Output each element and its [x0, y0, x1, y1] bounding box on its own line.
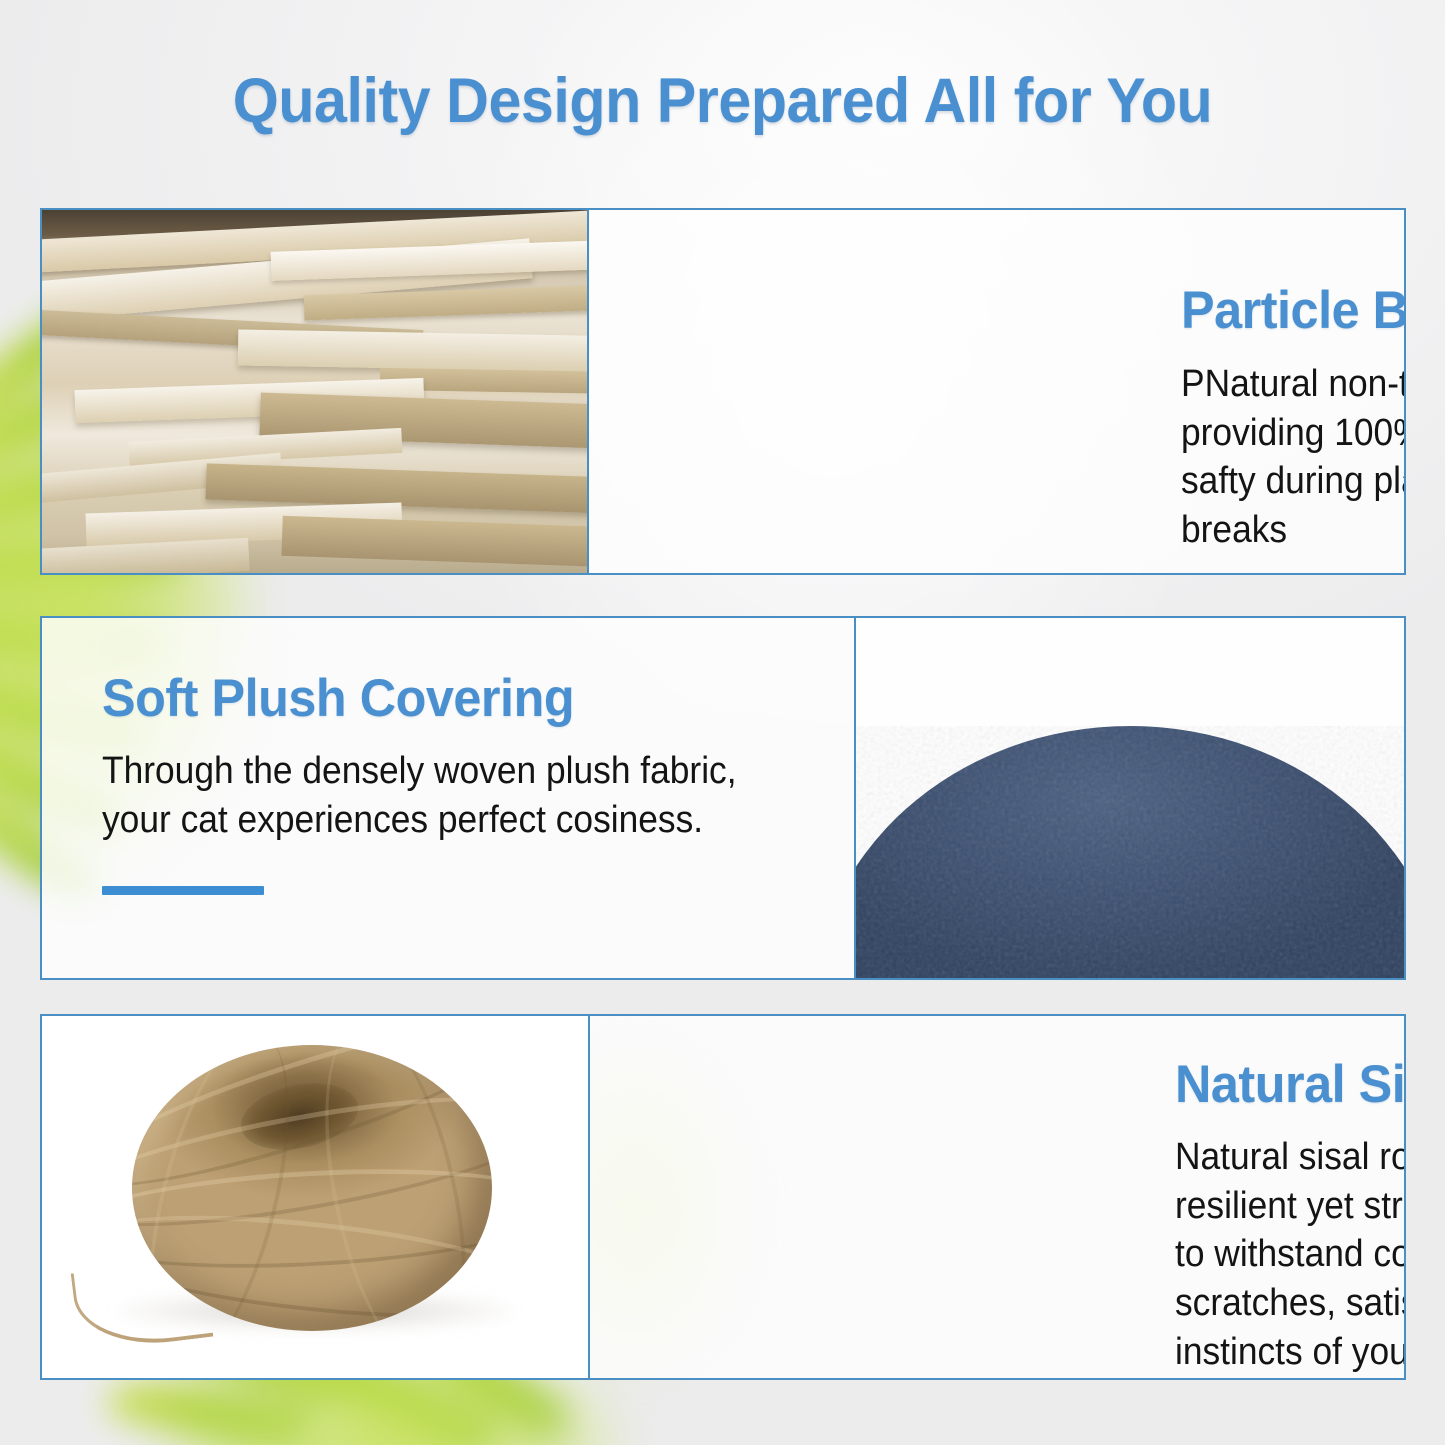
- rope-loose-end: [70, 1258, 213, 1354]
- feature-title-particle-board: Particle Board: [1181, 284, 1406, 337]
- feature-card-natural-sisal-rope: Natural Sisal Rope Natural sisal rope is…: [40, 1014, 1406, 1380]
- particle-board-photo: [42, 210, 587, 573]
- plush-texture: [856, 726, 1404, 978]
- feature-card-soft-plush-covering: Soft Plush Covering Through the densely …: [40, 616, 1406, 980]
- soft-plush-text-panel: Soft Plush Covering Through the densely …: [42, 618, 856, 978]
- feature-description-natural-sisal-rope: Natural sisal rope is highly resilient y…: [1175, 1133, 1406, 1380]
- sisal-rope-image: [42, 1016, 588, 1378]
- particle-board-text-panel: Particle Board PNatural non-toxic, provi…: [587, 210, 1404, 573]
- feature-description-soft-plush-covering: Through the densely woven plush fabric, …: [102, 747, 753, 844]
- feature-title-natural-sisal-rope: Natural Sisal Rope: [1175, 1058, 1406, 1111]
- sisal-rope-ball-photo: [42, 1016, 588, 1378]
- navy-plush-fabric-photo: [856, 618, 1404, 978]
- sisal-rope-text-panel: Natural Sisal Rope Natural sisal rope is…: [588, 1016, 1404, 1378]
- plush-dome-shape: [856, 726, 1404, 978]
- navy-plush-image: [856, 618, 1404, 978]
- feature-title-soft-plush-covering: Soft Plush Covering: [102, 672, 767, 725]
- card-divider: [587, 210, 589, 573]
- feature-card-particle-board: Particle Board PNatural non-toxic, provi…: [40, 208, 1406, 575]
- page-title: Quality Design Prepared All for You: [43, 68, 1401, 134]
- card-divider: [588, 1016, 590, 1378]
- particle-board-image: [42, 210, 587, 573]
- feature-description-particle-board: PNatural non-toxic, providing 100% safty…: [1181, 360, 1406, 555]
- accent-bar-soft-plush-covering: [102, 886, 264, 895]
